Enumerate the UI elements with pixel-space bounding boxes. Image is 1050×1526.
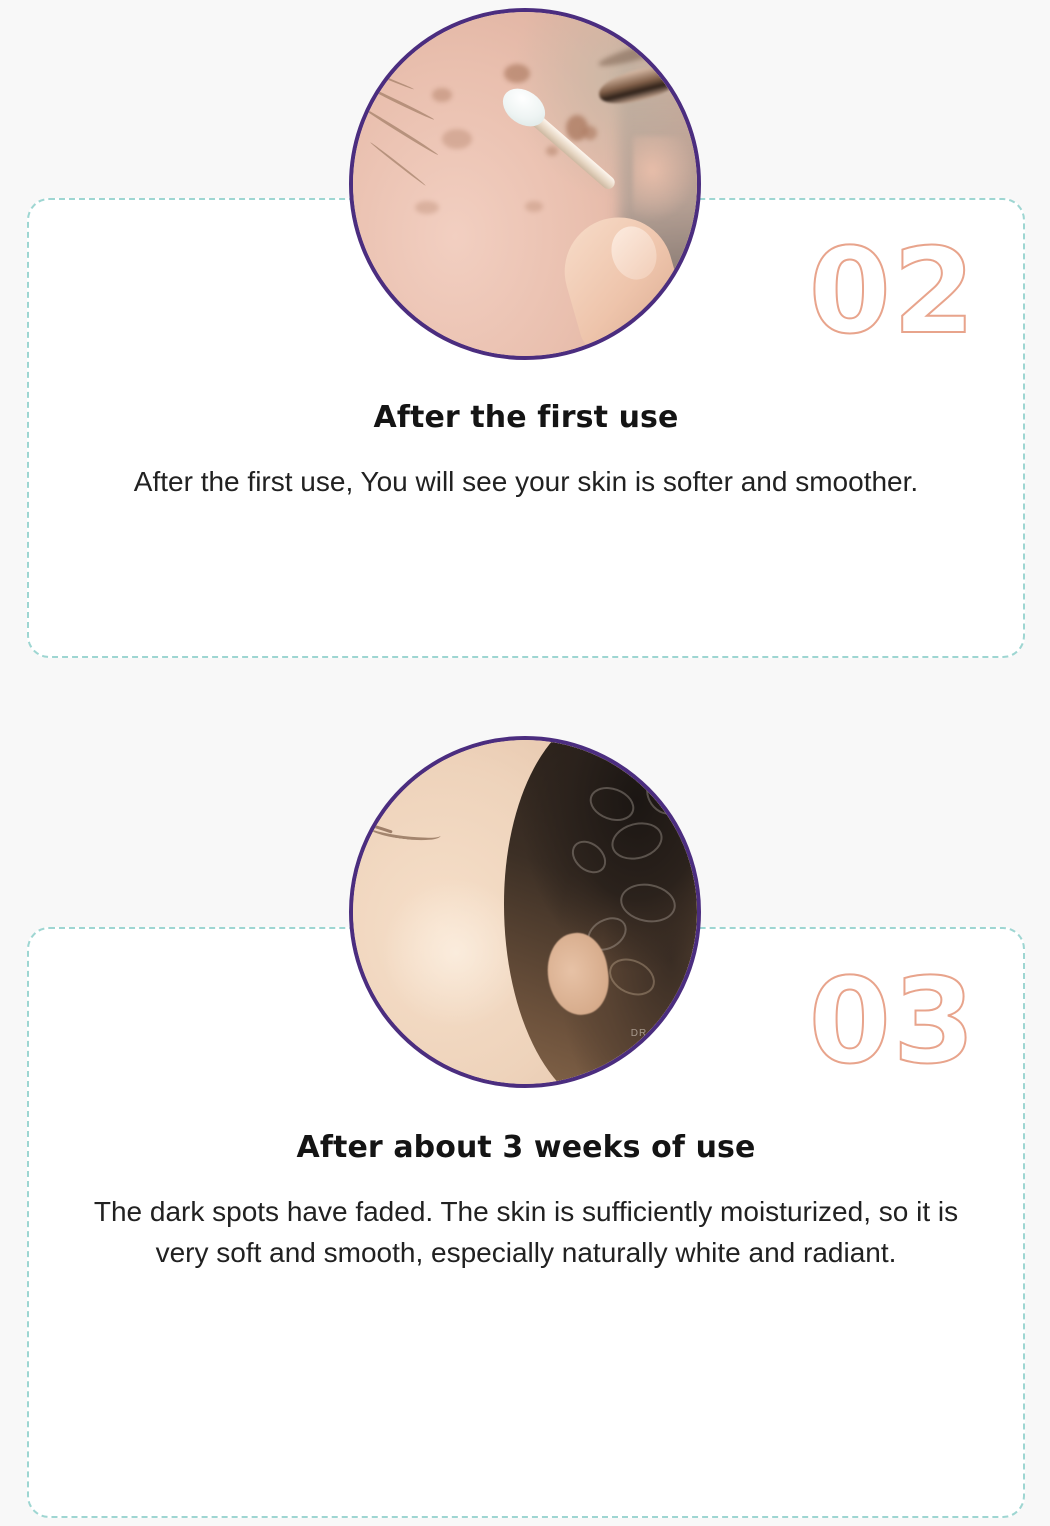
dark-spot — [504, 64, 530, 83]
step-card-content-02: After the first use After the first use,… — [29, 400, 1023, 503]
step-photo-03: DR.H — [349, 736, 701, 1088]
step-photo-02 — [349, 8, 701, 360]
nose-bridge — [633, 136, 697, 222]
step-number-03: 03 — [809, 962, 977, 1080]
dark-spot — [546, 146, 558, 156]
step-title-03: After about 3 weeks of use — [69, 1130, 983, 1166]
dark-spot — [583, 126, 597, 140]
step-card-content-03: After about 3 weeks of use The dark spot… — [29, 1130, 1023, 1273]
step-title-02: After the first use — [69, 400, 983, 436]
step-photo-02-inner — [353, 12, 697, 356]
product-benefits-page: 02 After the first use After the first u… — [0, 0, 1050, 1526]
photo-watermark: DR.H — [631, 1028, 659, 1039]
dark-spot — [432, 88, 452, 102]
step-description-02: After the first use, You will see your s… — [69, 462, 983, 503]
step-description-03: The dark spots have faded. The skin is s… — [69, 1192, 983, 1273]
step-photo-03-inner: DR.H — [353, 740, 697, 1084]
step-number-02: 02 — [809, 232, 977, 350]
